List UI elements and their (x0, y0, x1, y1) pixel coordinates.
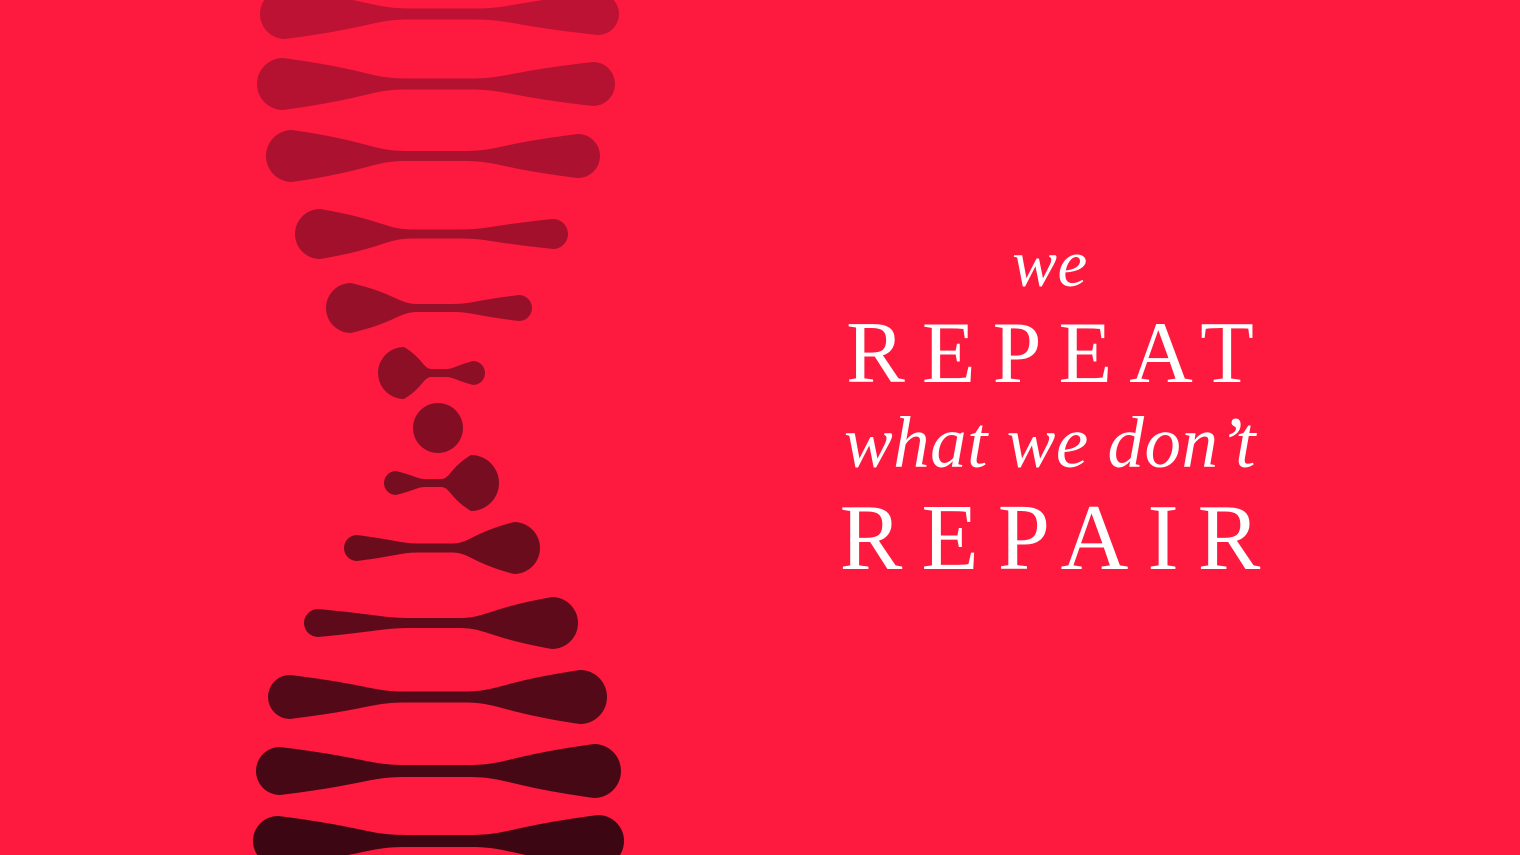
dna-rung (378, 347, 485, 399)
dna-rung (256, 744, 621, 798)
dna-rung (268, 670, 607, 724)
dna-rung (257, 58, 615, 110)
quote-line-what-we-dont: what we don’t (760, 404, 1340, 482)
dna-rung (344, 522, 540, 574)
poster-canvas: we REPEAT what we don’t REPAIR (0, 0, 1520, 855)
quote-line-repeat: REPEAT (760, 306, 1340, 402)
quote-block: we REPEAT what we don’t REPAIR (760, 228, 1340, 588)
quote-line-we: we (760, 228, 1340, 300)
dna-rung (266, 130, 600, 182)
dna-rung (304, 597, 578, 649)
dna-rung (384, 455, 499, 511)
dna-rung (295, 209, 568, 259)
dna-rung (253, 815, 624, 855)
dna-rung-group (253, 0, 624, 855)
dna-rung (260, 0, 619, 39)
dna-node (413, 403, 463, 453)
dna-rung (326, 283, 532, 333)
quote-line-repair: REPAIR (760, 488, 1340, 588)
